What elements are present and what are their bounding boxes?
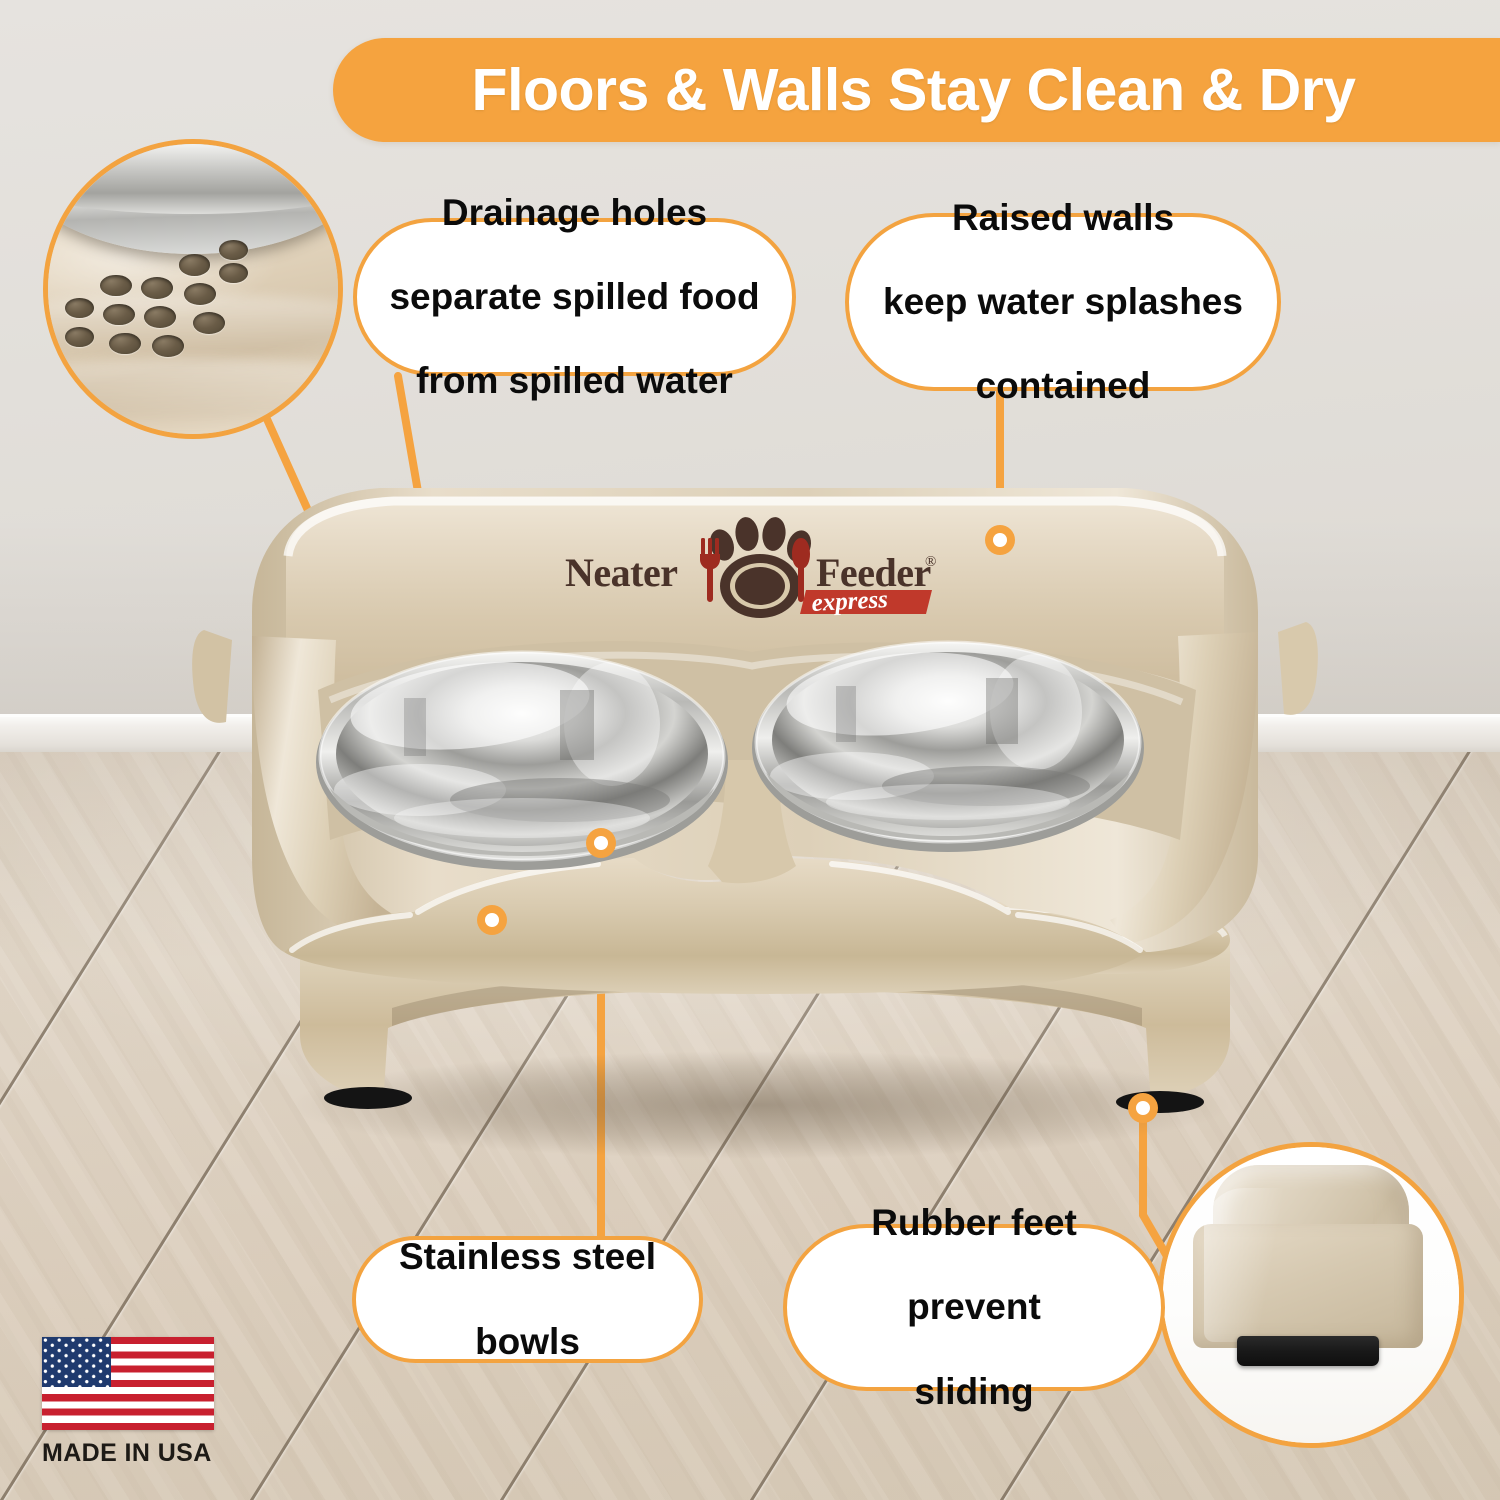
inset-rubber-pad: [1237, 1336, 1379, 1366]
drainage-hole: [141, 277, 173, 299]
drainage-hole: [193, 312, 225, 334]
inset-bowl-rim: [43, 144, 343, 214]
leader-dot-drainage-center: [485, 913, 499, 927]
callout-raised-walls: Raised wallskeep water splashescontained: [845, 213, 1281, 391]
drainage-hole: [100, 275, 132, 297]
inset-surface-wave: [43, 359, 343, 419]
callout-drainage-text: Drainage holesseparate spilled foodfrom …: [389, 192, 759, 403]
drainage-inset-artwork: [48, 144, 338, 434]
rubber-foot-inset-artwork: [1163, 1147, 1459, 1443]
drainage-hole: [144, 306, 176, 328]
drainage-hole: [103, 304, 135, 326]
drainage-hole: [179, 254, 211, 276]
leader-dot-stainless-bowls-center: [594, 836, 608, 850]
flag-stars: [42, 1337, 111, 1387]
made-in-usa-label: MADE IN USA: [42, 1439, 222, 1468]
drainage-hole: [184, 283, 216, 305]
callout-stainless-bowls-text: Stainless steelbowls: [399, 1236, 656, 1363]
made-in-usa-badge: MADE IN USA: [42, 1337, 222, 1467]
inset-leg-highlight: [1204, 1188, 1293, 1342]
callout-stainless-bowls: Stainless steelbowls: [352, 1236, 703, 1363]
infographic-canvas: Floors & Walls Stay Clean & Dry: [0, 0, 1500, 1500]
callout-rubber-feet: Rubber feetpreventsliding: [783, 1224, 1165, 1391]
us-flag-icon: [42, 1337, 214, 1430]
drainage-hole: [109, 333, 141, 355]
drainage-holes-inset: [43, 139, 343, 439]
leader-dot-raised-walls-center: [993, 533, 1007, 547]
drainage-hole: [219, 240, 248, 260]
callout-raised-walls-text: Raised wallskeep water splashescontained: [883, 197, 1243, 408]
callout-drainage-holes: Drainage holesseparate spilled foodfrom …: [353, 218, 796, 376]
rubber-foot-inset: [1158, 1142, 1464, 1448]
leader-dot-rubber-feet-center: [1136, 1101, 1150, 1115]
callout-rubber-feet-text: Rubber feetpreventsliding: [871, 1202, 1077, 1413]
